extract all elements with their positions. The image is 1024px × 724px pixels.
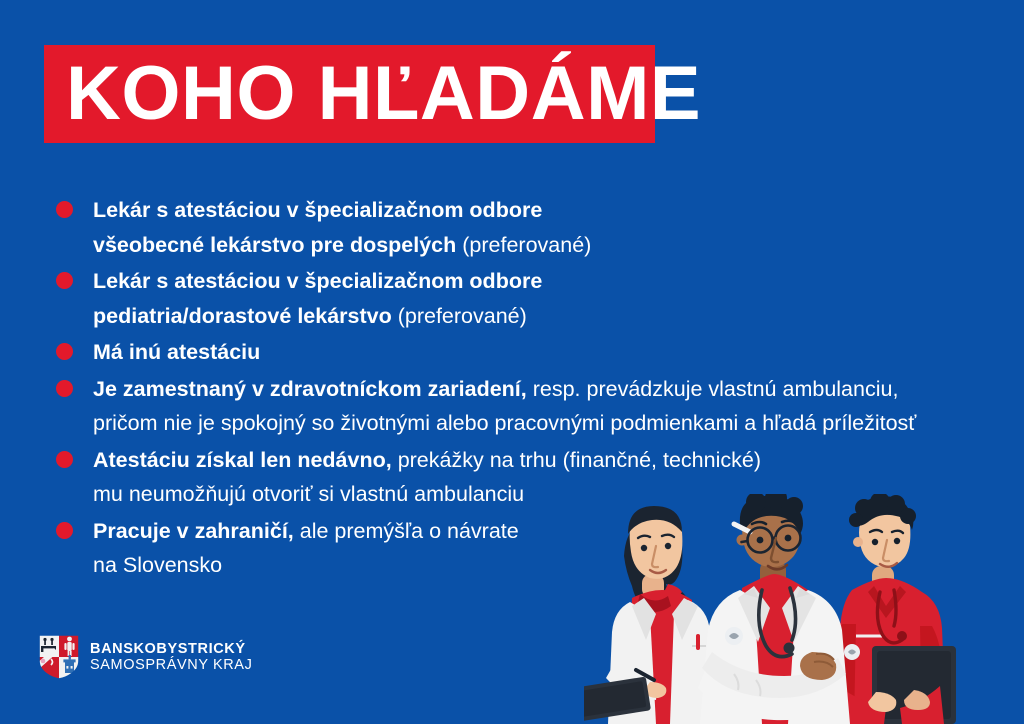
bullet-text-bold: Je zamestnaný v zdravotníckom zariadení, — [93, 377, 527, 401]
bullet-line: Je zamestnaný v zdravotníckom zariadení,… — [93, 372, 1006, 407]
bullet-dot-icon — [56, 343, 73, 360]
bullet-text-regular: (preferované) — [392, 304, 527, 328]
logo-line-secondary: SAMOSPRÁVNY KRAJ — [90, 657, 252, 673]
bullet-lekar-pediatria: Lekár s atestáciou v špecializačnom odbo… — [56, 264, 1006, 333]
healthcare-workers-illustration — [584, 494, 1024, 724]
bullet-text-regular: prekážky na trhu (finančné, technické) — [392, 448, 761, 472]
bullet-dot-icon — [56, 380, 73, 397]
bullet-text-bold: všeobecné lekárstvo pre dospelých — [93, 233, 456, 257]
bullet-text-bold: Má inú atestáciu — [93, 340, 260, 364]
title-banner: KOHO HĽADÁME — [44, 45, 655, 143]
bullet-dot-icon — [56, 522, 73, 539]
bullet-text-bold: Pracuje v zahraničí, — [93, 519, 294, 543]
poster-canvas: KOHO HĽADÁME Lekár s atestáciou v špecia… — [0, 0, 1024, 724]
bullet-text-regular: mu neumožňujú otvoriť si vlastnú ambulan… — [93, 482, 524, 506]
bullet-text-bold: Lekár s atestáciou v špecializačnom odbo… — [93, 198, 542, 222]
bullet-text-bold: Lekár s atestáciou v špecializačnom odbo… — [93, 269, 542, 293]
bullet-zamestnany: Je zamestnaný v zdravotníckom zariadení,… — [56, 372, 1006, 441]
bullet-dot-icon — [56, 272, 73, 289]
bullet-line: Lekár s atestáciou v špecializačnom odbo… — [93, 264, 1006, 299]
bullet-ina-atestacia: Má inú atestáciu — [56, 335, 1006, 370]
bullet-text-regular: ale premýšľa o návrate — [294, 519, 519, 543]
bullet-text-regular: resp. prevádzkuje vlastnú ambulanciu, — [527, 377, 899, 401]
bullet-line: pediatria/dorastové lekárstvo (preferova… — [93, 299, 1006, 334]
bullet-text-bold: Atestáciu získal len nedávno, — [93, 448, 392, 472]
bullet-text-regular: (preferované) — [456, 233, 591, 257]
bullet-text-regular: na Slovensko — [93, 553, 222, 577]
bullet-text-bold: pediatria/dorastové lekárstvo — [93, 304, 392, 328]
bullet-line: Lekár s atestáciou v špecializačnom odbo… — [93, 193, 1006, 228]
logo-wordmark: BANSKOBYSTRICKÝ SAMOSPRÁVNY KRAJ — [90, 641, 252, 673]
bullet-line: Má inú atestáciu — [93, 335, 1006, 370]
bullet-line: Atestáciu získal len nedávno, prekážky n… — [93, 443, 1006, 478]
bullet-lekar-vseobecne: Lekár s atestáciou v špecializačnom odbo… — [56, 193, 1006, 262]
coat-of-arms-icon — [38, 634, 80, 680]
bullet-dot-icon — [56, 451, 73, 468]
bullet-dot-icon — [56, 201, 73, 218]
organization-logo: BANSKOBYSTRICKÝ SAMOSPRÁVNY KRAJ — [38, 634, 252, 680]
logo-line-primary: BANSKOBYSTRICKÝ — [90, 641, 252, 657]
page-title: KOHO HĽADÁME — [44, 55, 701, 133]
bullet-line: všeobecné lekárstvo pre dospelých (prefe… — [93, 228, 1006, 263]
bullet-text-regular: pričom nie je spokojný so životnými aleb… — [93, 411, 916, 435]
bullet-line: pričom nie je spokojný so životnými aleb… — [93, 406, 1006, 441]
